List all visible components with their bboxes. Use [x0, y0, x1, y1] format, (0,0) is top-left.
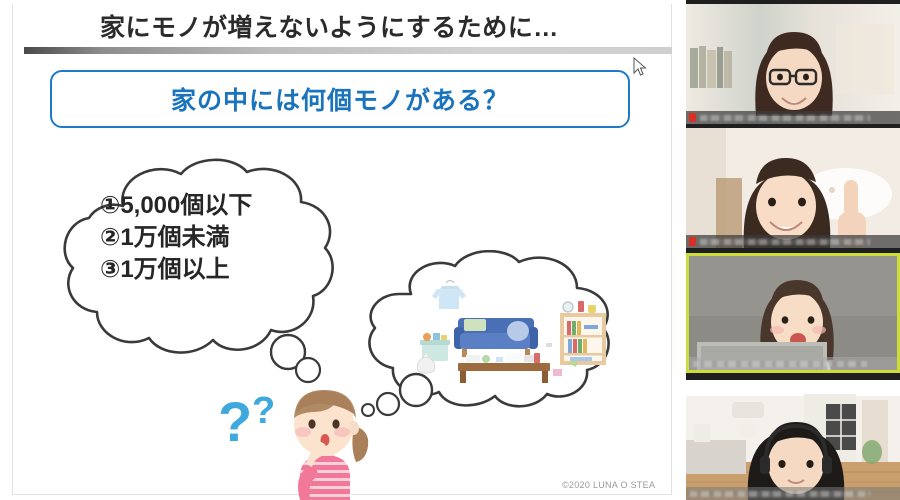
participant-name-blurred [693, 361, 867, 367]
copyright-notice: ©2020 LUNA O STEA [562, 480, 655, 490]
video-feed-1 [686, 4, 900, 124]
shared-slide[interactable]: 家にモノが増えないようにするために… 家の中には何個モノがある？ ①5,000個… [0, 0, 686, 500]
video-tile-participant-1[interactable] [686, 4, 900, 124]
participant-name-blurred [700, 115, 870, 121]
svg-text:?: ? [218, 390, 252, 453]
question-box: 家の中には何個モノがある？ [50, 70, 630, 128]
cluttered-room-illustration [410, 275, 620, 385]
video-tile-participant-2[interactable] [686, 128, 900, 248]
mic-muted-icon [689, 113, 696, 122]
mouse-cursor-icon [633, 57, 647, 77]
video-feed-3 [689, 256, 897, 370]
video-tile-participant-3[interactable] [686, 253, 900, 373]
mic-muted-icon [689, 237, 696, 246]
participant-name-bar-4 [686, 487, 900, 500]
sofa-icon [454, 318, 538, 357]
coffee-table-icon [458, 353, 550, 383]
thinking-woman-illustration [270, 378, 380, 500]
participant-name-blurred [700, 239, 870, 245]
option-1: ①5,000個以下 [100, 190, 252, 222]
participant-name-bar-1 [686, 111, 900, 124]
clutter-item [553, 369, 562, 376]
bookshelf-icon [560, 301, 606, 365]
meeting-screen-share-view: 家にモノが増えないようにするために… 家の中には何個モノがある？ ①5,000個… [0, 0, 900, 500]
video-feed-2 [686, 128, 900, 248]
video-tile-participant-4[interactable] [686, 380, 900, 500]
video-feed-4 [686, 380, 900, 500]
clutter-item [546, 343, 552, 347]
option-3: ③1万個以上 [100, 254, 252, 286]
answer-options: ①5,000個以下 ②1万個未満 ③1万個以上 [100, 190, 252, 286]
title-divider-rule [24, 47, 672, 54]
hanging-shirt-icon [432, 281, 466, 310]
participant-name-blurred [690, 491, 870, 497]
option-2: ②1万個未満 [100, 222, 252, 254]
participant-name-bar-3 [689, 357, 897, 370]
participant-name-bar-2 [686, 235, 900, 248]
question-text: 家の中には何個モノがある？ [171, 81, 509, 117]
slide-title: 家にモノが増えないようにするために… [100, 8, 559, 44]
participant-video-panel [686, 0, 900, 500]
